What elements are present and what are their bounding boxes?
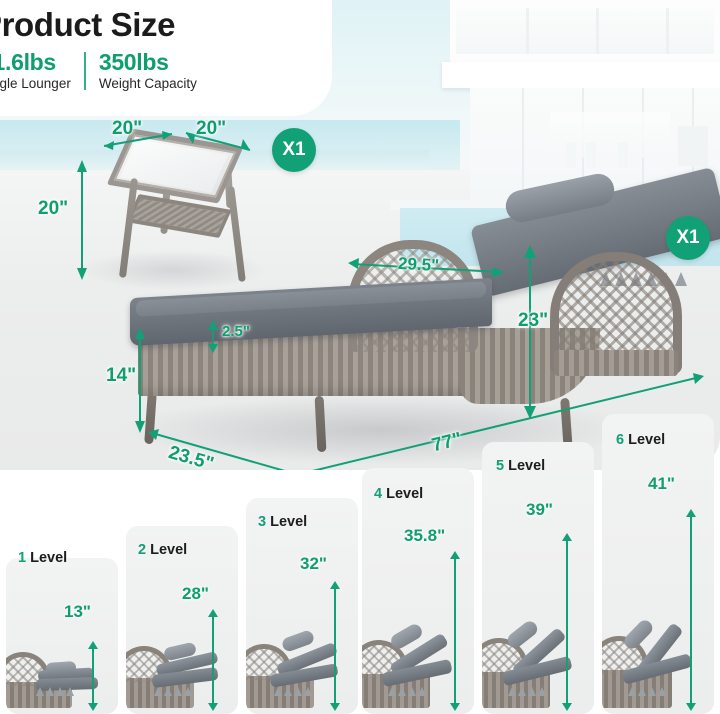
dim-seat-width: 29.5" bbox=[398, 254, 440, 276]
level-card-4 bbox=[362, 468, 474, 714]
dim-seat-height: 14" bbox=[106, 365, 136, 387]
spec-weight-label: Single Lounger bbox=[0, 76, 71, 92]
level-caption-1: 1 Level bbox=[18, 550, 67, 566]
level-card-5 bbox=[482, 442, 594, 714]
level-card-6 bbox=[602, 414, 714, 714]
level-height-3: 32" bbox=[300, 554, 327, 574]
dim-arm-height: 23" bbox=[518, 310, 548, 332]
level-height-1: 13" bbox=[64, 602, 91, 622]
spec-weight: 31.6lbs Single Lounger bbox=[0, 50, 71, 91]
level-card-3 bbox=[246, 498, 358, 714]
dim-table-top-left: 20" bbox=[112, 118, 142, 140]
dim-table-top-right: 20" bbox=[196, 118, 226, 140]
spec-row: 31.6lbs Single Lounger 350lbs Weight Cap… bbox=[0, 50, 197, 91]
level-height-2: 28" bbox=[182, 584, 209, 604]
product-size-infographic: 20" 20" 20" 29.5" 2.5" 14" 23" 77" 23.5"… bbox=[0, 0, 720, 714]
spec-divider bbox=[84, 52, 86, 90]
spec-weight-value: 31.6lbs bbox=[0, 50, 71, 75]
level-height-4: 35.8" bbox=[404, 526, 445, 546]
level-caption-6: 6 Level bbox=[616, 432, 665, 448]
hero-scene: 20" 20" 20" 29.5" 2.5" 14" 23" 77" 23.5"… bbox=[0, 0, 720, 470]
quantity-badge-table: X1 bbox=[272, 128, 316, 172]
spec-capacity-label: Weight Capacity bbox=[99, 76, 197, 92]
level-caption-3: 3 Level bbox=[258, 514, 307, 530]
spec-capacity: 350lbs Weight Capacity bbox=[99, 50, 197, 91]
level-caption-4: 4 Level bbox=[374, 486, 423, 502]
level-height-6: 41" bbox=[648, 474, 675, 494]
level-caption-2: 2 Level bbox=[138, 542, 187, 558]
dim-table-height: 20" bbox=[38, 198, 68, 220]
dim-cushion-thickness: 2.5" bbox=[222, 323, 250, 340]
page-title: Product Size bbox=[0, 8, 175, 41]
recline-levels-row: 1 Level 13" 2 Level 28" bbox=[0, 440, 720, 714]
level-height-5: 39" bbox=[526, 500, 553, 520]
chaise-lounger bbox=[130, 160, 690, 450]
level-card-1 bbox=[6, 558, 118, 714]
spec-capacity-value: 350lbs bbox=[99, 50, 197, 75]
quantity-badge-lounger: X1 bbox=[666, 216, 710, 260]
level-caption-5: 5 Level bbox=[496, 458, 545, 474]
title-card: Product Size 31.6lbs Single Lounger 350l… bbox=[0, 0, 332, 116]
